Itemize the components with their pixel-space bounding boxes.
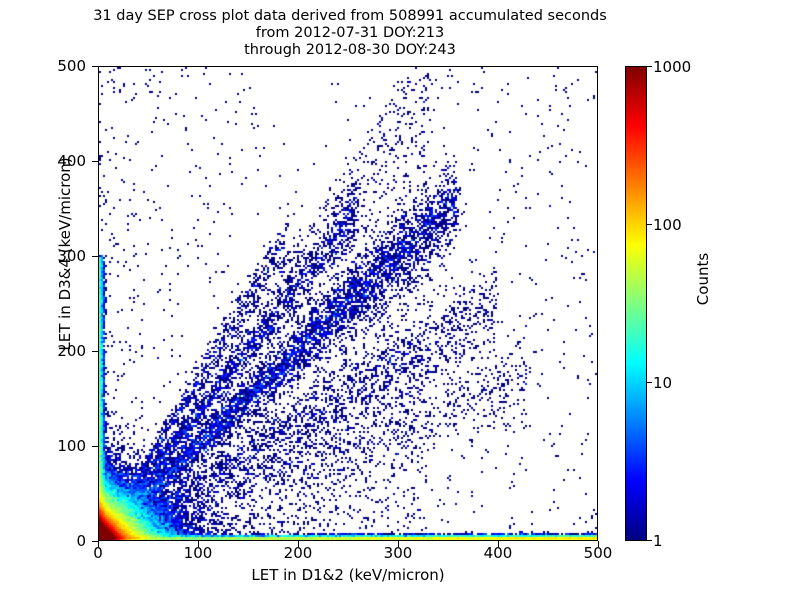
title-line-3: through 2012-08-30 DOY:243 bbox=[0, 42, 700, 59]
y-tick-400 bbox=[92, 161, 98, 162]
title-line-1: 31 day SEP cross plot data derived from … bbox=[0, 8, 700, 25]
y-tick-500 bbox=[92, 66, 98, 67]
colorbar-ticklabel-100: 100 bbox=[653, 218, 682, 233]
y-tick-300 bbox=[92, 256, 98, 257]
x-ticklabel-400: 400 bbox=[458, 546, 538, 561]
y-ticklabel-500: 500 bbox=[30, 59, 86, 74]
plot-area bbox=[98, 66, 598, 541]
y-axis-label: LET in D3&4 (keV/micron) bbox=[56, 94, 74, 414]
colorbar-tick-1000 bbox=[647, 66, 652, 67]
x-ticklabel-100: 100 bbox=[158, 546, 238, 561]
x-ticklabel-300: 300 bbox=[358, 546, 438, 561]
colorbar-tick-10 bbox=[647, 382, 652, 383]
x-ticklabel-200: 200 bbox=[258, 546, 338, 561]
y-tick-100 bbox=[92, 446, 98, 447]
colorbar-ticklabel-10: 10 bbox=[653, 376, 672, 391]
colorbar-ticklabel-1000: 1000 bbox=[653, 60, 691, 75]
title-line-2: from 2012-07-31 DOY:213 bbox=[0, 25, 700, 42]
colorbar-ticklabel-1: 1 bbox=[653, 534, 663, 549]
scatter-density-plot bbox=[99, 67, 597, 540]
colorbar-gradient bbox=[625, 66, 647, 541]
y-tick-200 bbox=[92, 351, 98, 352]
x-ticklabel-0: 0 bbox=[58, 546, 138, 561]
y-ticklabel-100: 100 bbox=[30, 439, 86, 454]
colorbar bbox=[625, 66, 647, 541]
figure-root: 31 day SEP cross plot data derived from … bbox=[0, 0, 800, 600]
colorbar-label: Counts bbox=[694, 219, 712, 339]
chart-title: 31 day SEP cross plot data derived from … bbox=[0, 8, 700, 59]
x-axis-label: LET in D1&2 (keV/micron) bbox=[98, 566, 598, 584]
x-ticklabel-500: 500 bbox=[558, 546, 638, 561]
colorbar-tick-100 bbox=[647, 224, 652, 225]
colorbar-tick-1 bbox=[647, 540, 652, 541]
